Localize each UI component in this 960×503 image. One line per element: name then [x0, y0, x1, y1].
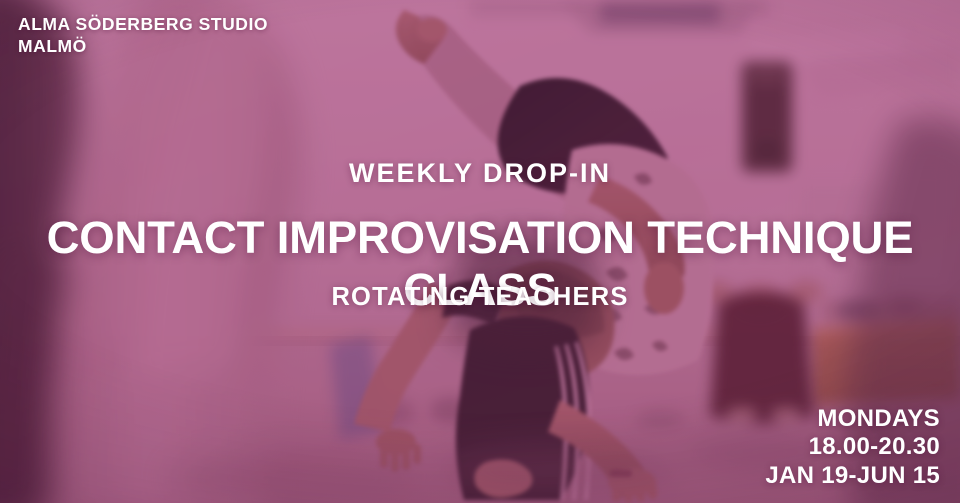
- text-layer: ALMA SÖDERBERG STUDIO MALMÖ WEEKLY DROP-…: [0, 0, 960, 503]
- schedule-block: MONDAYS 18.00-20.30 JAN 19-JUN 15: [765, 405, 940, 491]
- subtitle-text: ROTATING TEACHERS: [0, 283, 960, 312]
- event-poster: ALMA SÖDERBERG STUDIO MALMÖ WEEKLY DROP-…: [0, 0, 960, 503]
- studio-name: ALMA SÖDERBERG STUDIO MALMÖ: [18, 13, 268, 57]
- kicker-text: WEEKLY DROP-IN: [0, 158, 960, 189]
- schedule-dates: JAN 19-JUN 15: [765, 462, 940, 491]
- schedule-day: MONDAYS: [765, 405, 940, 434]
- schedule-time: 18.00-20.30: [765, 433, 940, 462]
